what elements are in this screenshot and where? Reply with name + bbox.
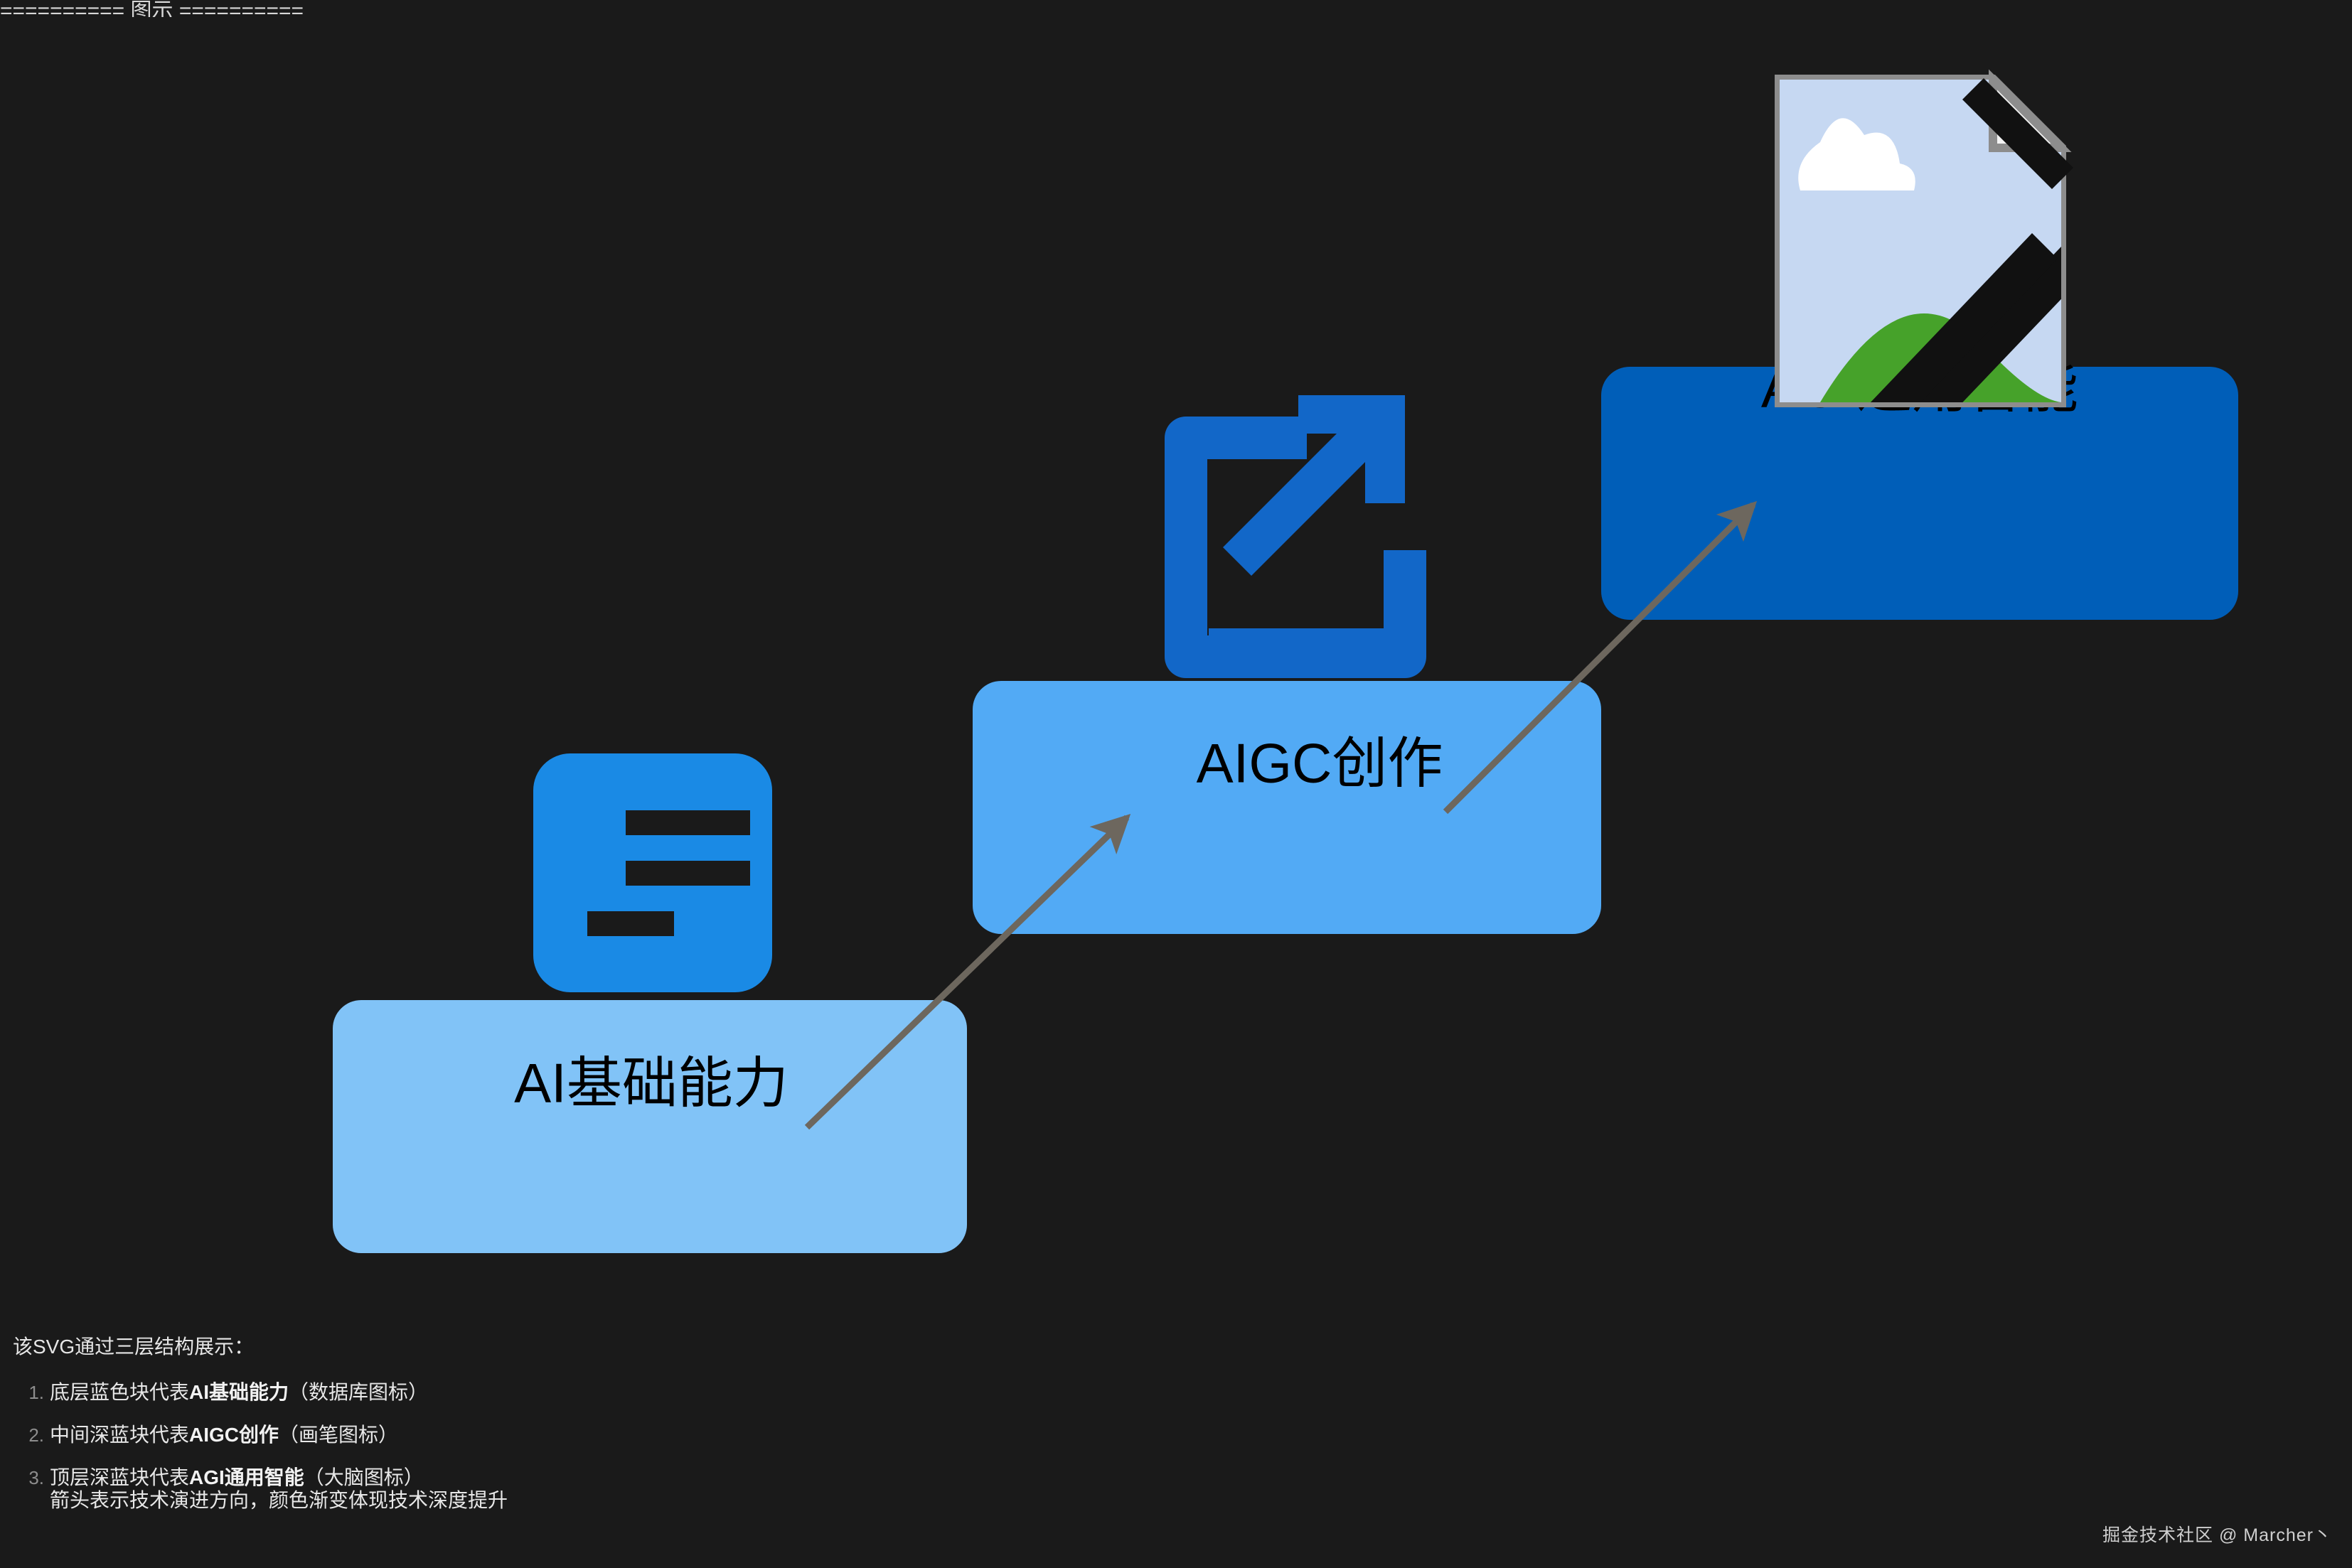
- database-icon: [533, 753, 772, 992]
- list-item-emphasis: AIGC创作: [189, 1424, 279, 1446]
- broken-image-icon: [1780, 78, 2116, 445]
- list-item: 1. 底层蓝色块代表AI基础能力（数据库图标）: [13, 1380, 1079, 1405]
- list-item-suffix: （数据库图标）: [289, 1381, 428, 1403]
- list-item-prefix: 中间深蓝块代表: [50, 1424, 189, 1446]
- explanation-intro: 该SVG通过三层结构展示：: [13, 1335, 1079, 1359]
- external-link-icon: [1165, 395, 1426, 678]
- list-item-text: 底层蓝色块代表AI基础能力（数据库图标）: [50, 1380, 428, 1405]
- explanation-list: 1. 底层蓝色块代表AI基础能力（数据库图标） 2. 中间深蓝块代表AIGC创作…: [13, 1380, 1079, 1490]
- list-item: 2. 中间深蓝块代表AIGC创作（画笔图标）: [13, 1423, 1079, 1447]
- list-item-index: 3.: [13, 1466, 50, 1490]
- screenshot-root: ========== 图示 ==========: [0, 0, 2352, 1568]
- list-item-suffix: （大脑图标）: [304, 1466, 424, 1488]
- list-item-text: 顶层深蓝块代表AGI通用智能（大脑图标）: [50, 1466, 424, 1490]
- list-item-emphasis: AI基础能力: [189, 1381, 289, 1403]
- list-item-emphasis: AGI通用智能: [189, 1466, 304, 1488]
- list-item-index: 1.: [13, 1380, 50, 1405]
- list-item-text: 中间深蓝块代表AIGC创作（画笔图标）: [50, 1423, 398, 1447]
- list-item: 3. 顶层深蓝块代表AGI通用智能（大脑图标）: [13, 1466, 1079, 1490]
- explanation-block: 该SVG通过三层结构展示： 1. 底层蓝色块代表AI基础能力（数据库图标） 2.…: [13, 1335, 1079, 1513]
- node-ai-base-label: AI基础能力: [514, 1052, 789, 1115]
- list-item-prefix: 顶层深蓝块代表: [50, 1466, 189, 1488]
- list-item-prefix: 底层蓝色块代表: [50, 1381, 189, 1403]
- explanation-note: 箭头表示技术演进方向，颜色渐变体现技术深度提升: [50, 1488, 1079, 1513]
- node-ai-base[interactable]: AI基础能力: [333, 1000, 967, 1253]
- layered-architecture-diagram: AGI通用智能 AIGC创作 AI基础能力: [0, 0, 2352, 1301]
- list-item-suffix: （画笔图标）: [279, 1424, 398, 1446]
- node-aigc[interactable]: AIGC创作: [973, 681, 1601, 934]
- watermark-credit: 掘金技术社区 @ Marcher丶: [2102, 1521, 2332, 1547]
- list-item-index: 2.: [13, 1423, 50, 1447]
- node-aigc-label: AIGC创作: [1197, 732, 1443, 795]
